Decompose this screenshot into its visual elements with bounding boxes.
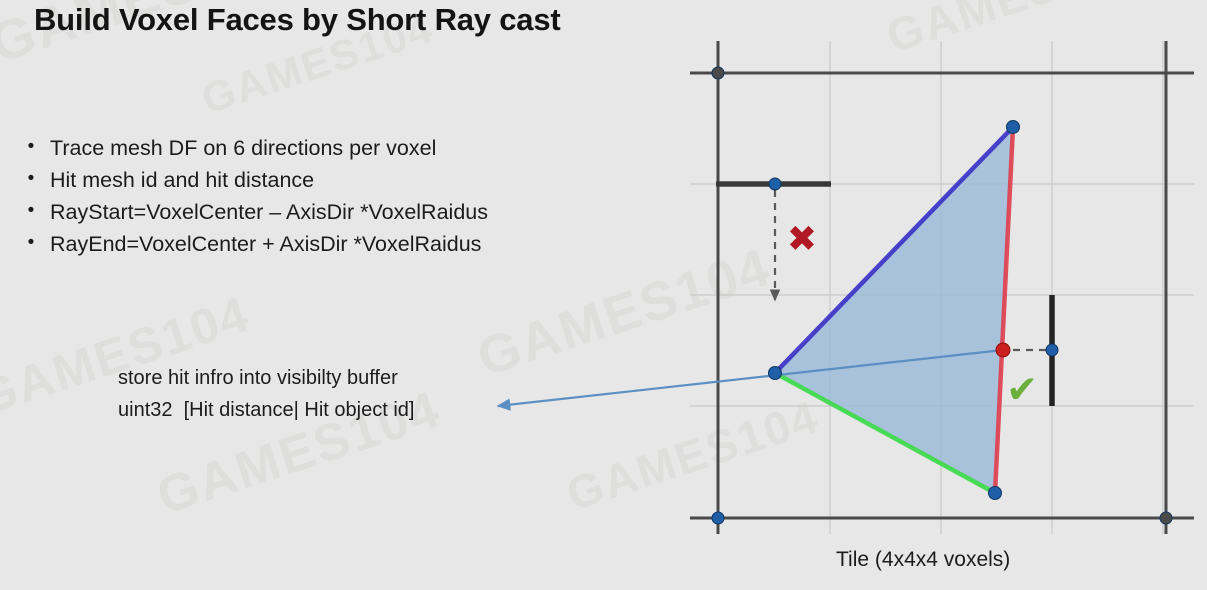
miss-face-bar-dot: [769, 178, 781, 190]
hit-marker-icon: ✔: [1006, 368, 1038, 412]
triangle-vertex-dot: [989, 487, 1002, 500]
hit-point-dot: [996, 343, 1010, 357]
triangle-vertex-dot: [769, 367, 782, 380]
voxel-tile-diagram: ✖✔: [0, 0, 1207, 590]
bottom-right-corner-dot: [1160, 512, 1172, 524]
miss-marker-icon: ✖: [787, 219, 817, 260]
hit-face-bar-dot: [1046, 344, 1058, 356]
triangle-vertex-dot: [1007, 121, 1020, 134]
top-left-corner-dot: [712, 67, 724, 79]
bottom-left-corner-dot: [712, 512, 724, 524]
